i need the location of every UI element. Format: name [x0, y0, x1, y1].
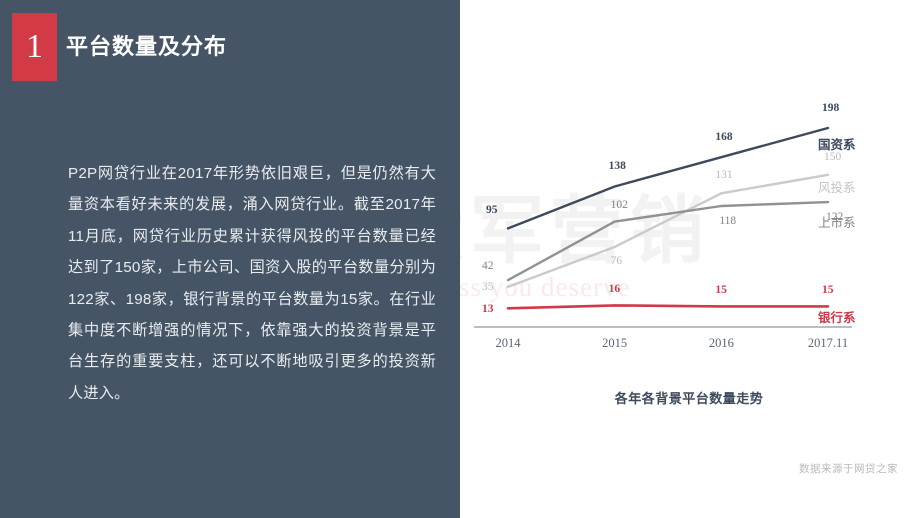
x-axis-tick: 2016 — [681, 336, 761, 351]
x-axis-tick: 2015 — [575, 336, 655, 351]
chart-title: 各年各背景平台数量走势 — [460, 388, 918, 407]
series-label-银行系: 银行系 — [818, 307, 856, 326]
series-label-风投系: 风投系 — [818, 177, 856, 196]
data-label: 198 — [822, 102, 839, 114]
section-number-badge: 1 — [12, 13, 57, 81]
data-label: 13 — [482, 303, 494, 315]
series-line-风投系 — [508, 175, 828, 287]
series-label-上市系: 上市系 — [818, 212, 856, 231]
section-number: 1 — [26, 30, 43, 64]
source-note: 数据来源于网贷之家 — [799, 461, 898, 476]
data-label: 168 — [715, 131, 732, 143]
data-label: 42 — [482, 260, 494, 272]
data-label: 15 — [822, 284, 834, 296]
slide-canvas: 1 平台数量及分布 P2P网贷行业在2017年形势依旧艰巨，但是仍然有大量资本看… — [0, 0, 918, 518]
page-title: 平台数量及分布 — [66, 29, 227, 61]
data-label: 35 — [482, 281, 494, 293]
data-label: 118 — [719, 215, 736, 227]
x-axis-tick: 2017.11 — [788, 336, 868, 351]
chart-plot-area — [460, 0, 918, 420]
data-label: 15 — [715, 284, 727, 296]
line-chart: 95138168198国资系3576131150风投系42102118122上市… — [460, 0, 918, 420]
data-label: 138 — [609, 160, 626, 172]
data-label: 102 — [611, 199, 628, 211]
body-paragraph: P2P网贷行业在2017年形势依旧艰巨，但是仍然有大量资本看好未来的发展，涌入网… — [68, 158, 436, 409]
x-axis-tick: 2014 — [468, 336, 548, 351]
data-label: 16 — [609, 283, 621, 295]
series-line-银行系 — [508, 305, 828, 308]
data-label: 131 — [715, 169, 732, 181]
data-label: 76 — [611, 255, 623, 267]
chart-panel: 大军营销 success you deserve 95138168198国资系3… — [460, 0, 918, 518]
data-label: 150 — [824, 151, 841, 163]
left-text-panel: 1 平台数量及分布 P2P网贷行业在2017年形势依旧艰巨，但是仍然有大量资本看… — [0, 0, 460, 518]
data-label: 95 — [486, 204, 498, 216]
